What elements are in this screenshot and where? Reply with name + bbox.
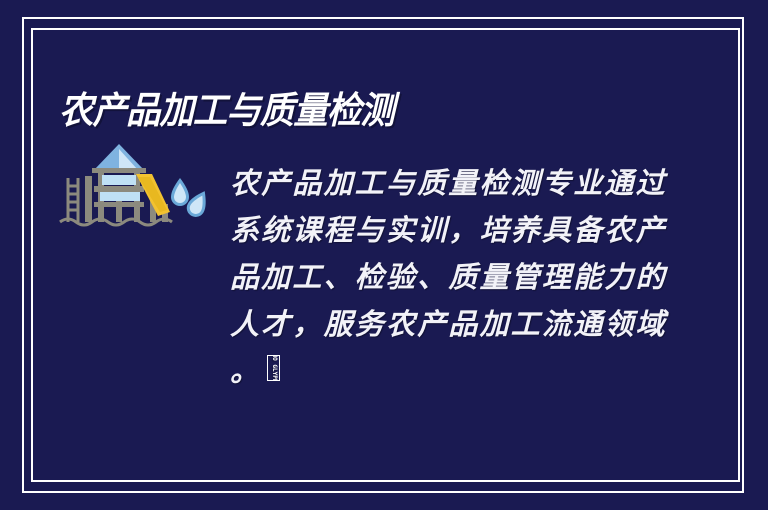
poster-canvas: 农产品加工与质量检测 (0, 0, 768, 510)
paragraph-line: 品加工、检验、质量管理能力的 (230, 254, 670, 301)
water-droplet-large (171, 178, 189, 206)
description-paragraph: 农产品加工与质量检测专业通过 系统课程与实训，培养具备农产 品加工、检验、质量管… (230, 160, 670, 395)
roof-base (92, 168, 146, 173)
paragraph-line: 人才，服务农产品加工流通领域 (230, 301, 670, 348)
paragraph-line: 系统课程与实训，培养具备农产 (230, 207, 670, 254)
missing-glyph-box: NO GLYPH (267, 355, 280, 381)
tower-window (100, 192, 140, 201)
tower-panel (102, 175, 136, 185)
post-shape (85, 176, 92, 222)
paragraph-line-text: 。 (230, 354, 261, 388)
tower-deck (94, 186, 144, 192)
tower-rail (94, 202, 144, 207)
playground-water-slide-icon (58, 142, 218, 234)
ladder-shape (68, 178, 78, 222)
missing-glyph-label: NO GLYPH (271, 355, 277, 381)
paragraph-line-final: 。NO GLYPH (230, 348, 670, 395)
paragraph-line: 农产品加工与质量检测专业通过 (230, 160, 670, 207)
page-title: 农产品加工与质量检测 (59, 89, 394, 133)
